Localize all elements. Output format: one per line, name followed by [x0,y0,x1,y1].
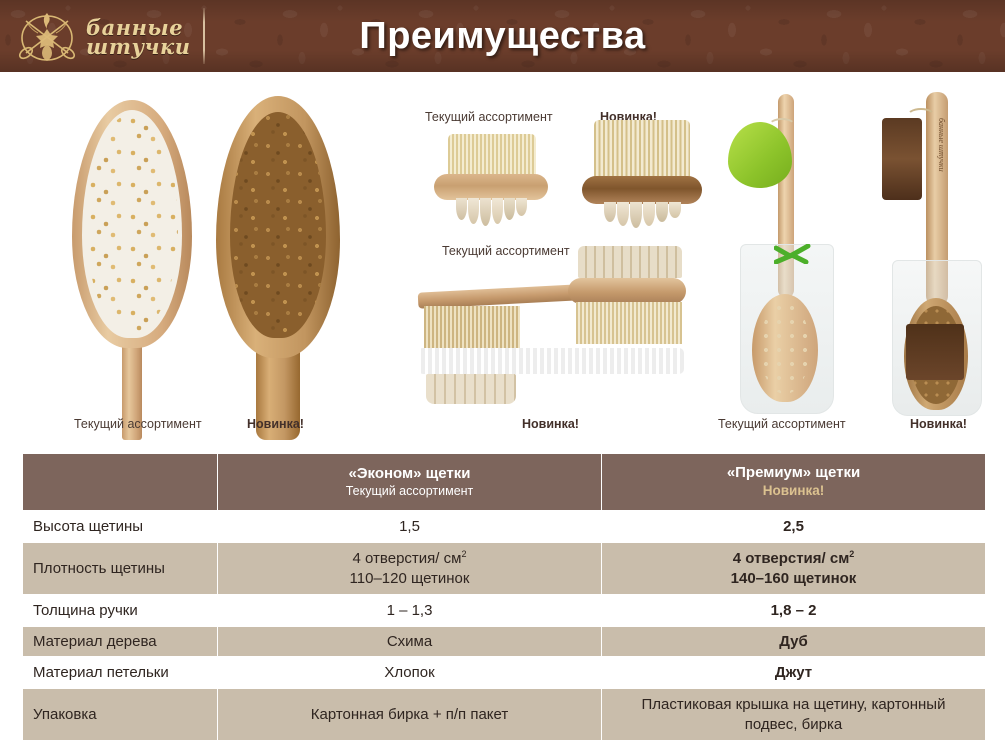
pad-massage-nubs [592,202,692,228]
econom-line-2: 110–120 щетинок [228,569,591,589]
photo-packaged-brush-new: банные штучки [880,92,990,414]
caption-sideview-current: Текущий ассортимент [442,244,570,258]
caption-packaged-current: Текущий ассортимент [718,417,846,431]
photo-oval-brush-new [216,96,340,436]
brush-bristle-field [230,112,326,338]
premium-title: «Премиум» щетки [608,464,979,483]
brush-nub-field [760,302,810,394]
photo-oval-brush-current [72,100,192,430]
premium-subtitle: Новинка! [608,483,979,500]
table-row: Высота щетины 1,5 2,5 [23,512,985,541]
premium-line-1: Пластиковая крышка на щетину, картонный [612,695,975,715]
brush-nubs-top [578,246,682,278]
page-header-band: банные штучки Преимущества [0,0,1005,72]
row-econom-value: 4 отверстия/ см2 110–120 щетинок [218,543,601,594]
table-header-row: «Эконом» щетки Текущий ассортимент «Прем… [23,454,985,510]
caption-oval-current: Текущий ассортимент [74,417,202,431]
row-premium-value: 4 отверстия/ см2 140–160 щетинок [602,543,985,594]
row-label: Высота щетины [23,512,217,541]
brand-wordmark: банные штучки [86,18,191,57]
pad-bristles [594,120,690,178]
table-header-econom: «Эконом» щетки Текущий ассортимент [218,454,601,510]
row-econom-value: 1 – 1,3 [218,596,601,625]
brush-head [568,278,686,304]
table-row: Плотность щетины 4 отверстия/ см2 110–12… [23,543,985,594]
row-premium-value: Пластиковая крышка на щетину, картонный … [602,689,985,740]
brand-line-2: штучки [86,37,191,56]
caption-oval-new: Новинка! [247,417,304,431]
photo-sideview-brush-new [418,334,686,434]
econom-title: «Эконом» щетки [224,465,595,484]
table-row: Толщина ручки 1 – 1,3 1,8 – 2 [23,596,985,625]
product-photo-area: Текущий ассортимент Новинка! Текущий асс… [0,72,1005,444]
premium-line-2: подвес, бирка [612,715,975,735]
row-label: Упаковка [23,689,217,740]
row-econom-value: Хлопок [218,658,601,687]
table-row: Упаковка Картонная бирка + п/п пакет Пла… [23,689,985,740]
table-header-feature-cell [23,454,217,510]
row-premium-value: 1,8 – 2 [602,596,985,625]
econom-subtitle: Текущий ассортимент [224,484,595,500]
row-premium-value: Дуб [602,627,985,656]
brush-bristles [424,306,520,348]
logo-emblem-icon [16,7,78,67]
photo-pad-brush-new [578,120,706,228]
row-econom-value: Схима [218,627,601,656]
row-label: Материал дерева [23,627,217,656]
premium-line-2: 140–160 щетинок [612,569,975,589]
row-econom-value: 1,5 [218,512,601,541]
premium-line-1: 4 отверстия/ см2 [612,549,975,569]
comparison-table: «Эконом» щетки Текущий ассортимент «Прем… [22,452,986,742]
table-header-premium: «Премиум» щетки Новинка! [602,454,985,510]
logo-divider [203,8,205,64]
row-label: Материал петельки [23,658,217,687]
pad-massage-nubs [444,198,538,226]
ribbon-icon [774,244,814,264]
green-ribbon [774,244,814,264]
brand-logo[interactable]: банные штучки [16,5,191,69]
econom-line-1: 4 отверстия/ см2 [228,549,591,569]
tag-string [906,108,936,126]
row-premium-value: Джут [602,658,985,687]
pad-bristles [448,134,536,176]
table-row: Материал дерева Схима Дуб [23,627,985,656]
banya-emblem-icon [16,7,78,67]
row-label: Толщина ручки [23,596,217,625]
row-premium-value: 2,5 [602,512,985,541]
pad-wood-body [434,174,548,200]
photo-packaged-brush-current [722,94,842,412]
row-econom-value: Картонная бирка + п/п пакет [218,689,601,740]
brown-hang-tag [882,118,922,200]
tag-string [768,118,796,134]
brush-head-and-handle [418,348,684,374]
row-label: Плотность щетины [23,543,217,594]
caption-pad-current: Текущий ассортимент [425,110,553,124]
pad-wood-body [582,176,702,204]
brush-nubs-bottom [426,374,516,404]
table-row: Материал петельки Хлопок Джут [23,658,985,687]
caption-packaged-new: Новинка! [910,417,967,431]
product-label [906,324,964,380]
photo-pad-brush-current [428,134,554,226]
brand-vertical-text: банные штучки [928,118,946,228]
